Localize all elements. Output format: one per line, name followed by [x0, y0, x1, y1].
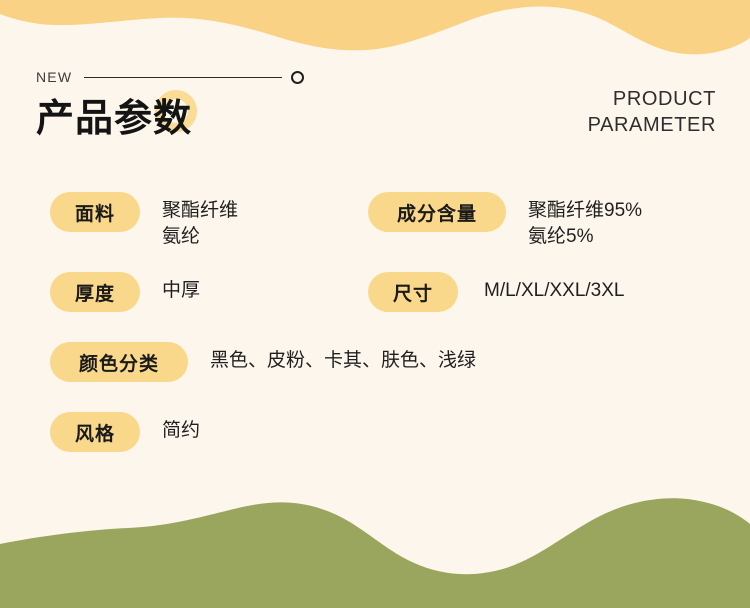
page-title: 产品参数 [36, 100, 192, 138]
parameter-row: 风格 简约 [0, 412, 750, 472]
page-title-wrap: 产品参数 [36, 92, 192, 146]
parameter-label: 风格 [50, 412, 140, 452]
bottom-wave-decoration [0, 486, 750, 608]
new-badge-row: NEW [36, 66, 304, 88]
parameter-item: 厚度 中厚 [50, 272, 368, 312]
parameter-value: 聚酯纤维95% 氨纶5% [528, 192, 642, 250]
divider-line [84, 77, 282, 78]
parameter-item: 颜色分类 黑色、皮粉、卡其、肤色、浅绿 [50, 342, 476, 382]
parameter-value: M/L/XL/XXL/3XL [484, 272, 624, 304]
parameter-list: 面料 聚酯纤维 氨纶 成分含量 聚酯纤维95% 氨纶5% 厚度 中厚 尺寸 M/… [0, 192, 750, 472]
parameter-row: 颜色分类 黑色、皮粉、卡其、肤色、浅绿 [0, 342, 750, 412]
new-label: NEW [36, 70, 72, 84]
parameter-value: 聚酯纤维 氨纶 [162, 192, 238, 250]
parameter-label: 厚度 [50, 272, 140, 312]
parameter-label: 面料 [50, 192, 140, 232]
parameter-item: 尺寸 M/L/XL/XXL/3XL [368, 272, 624, 312]
parameter-label: 颜色分类 [50, 342, 188, 382]
parameter-row: 厚度 中厚 尺寸 M/L/XL/XXL/3XL [0, 272, 750, 342]
parameter-item: 面料 聚酯纤维 氨纶 [50, 192, 368, 250]
top-wave-decoration [0, 0, 750, 62]
parameter-label: 成分含量 [368, 192, 506, 232]
circle-marker-icon [291, 71, 304, 84]
parameter-item: 成分含量 聚酯纤维95% 氨纶5% [368, 192, 642, 250]
parameter-label: 尺寸 [368, 272, 458, 312]
parameter-value: 黑色、皮粉、卡其、肤色、浅绿 [210, 342, 476, 374]
parameter-value: 简约 [162, 412, 200, 444]
parameter-item: 风格 简约 [50, 412, 200, 452]
parameter-row: 面料 聚酯纤维 氨纶 成分含量 聚酯纤维95% 氨纶5% [0, 192, 750, 272]
product-parameter-page: NEW 产品参数 PRODUCT PARAMETER 面料 聚酯纤维 氨纶 成分… [0, 0, 750, 608]
page-subtitle-english: PRODUCT PARAMETER [588, 86, 716, 139]
parameter-value: 中厚 [162, 272, 200, 304]
